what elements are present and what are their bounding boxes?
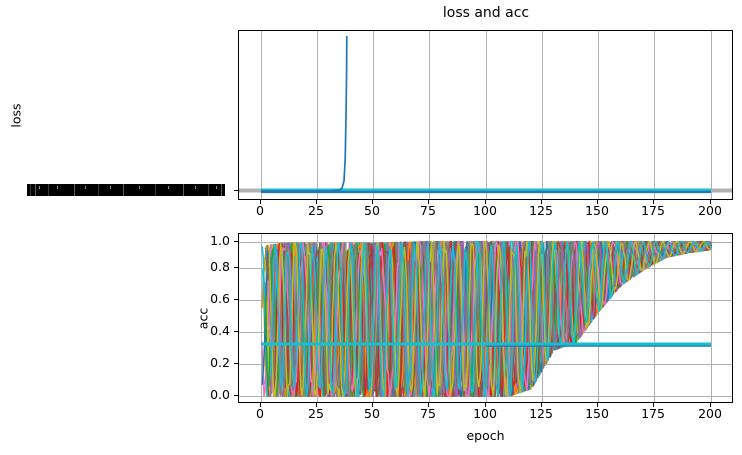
loss-xtick-label: 75	[420, 204, 436, 218]
loss-xtick-label: 200	[698, 204, 722, 218]
acc-ytick-mark	[234, 331, 238, 332]
figure-title: loss and acc	[238, 4, 734, 22]
acc-xtick-label: 175	[641, 407, 665, 421]
acc-plot-area	[238, 233, 733, 403]
acc-ytick-mark	[234, 241, 238, 242]
acc-xtick-label: 50	[364, 407, 380, 421]
acc-ytick-label: 1.0	[196, 234, 230, 248]
acc-xtick-label: 200	[698, 407, 722, 421]
acc-ytick-mark	[234, 299, 238, 300]
acc-xtick-label: 75	[420, 407, 436, 421]
acc-xtick-label: 125	[529, 407, 553, 421]
acc-ytick-mark	[234, 267, 238, 268]
acc-ytick-mark	[234, 395, 238, 396]
loss-plot-area	[238, 30, 733, 200]
loss-xtick-label: 50	[364, 204, 380, 218]
loss-xtick-label: 25	[308, 204, 324, 218]
loss-xtick-label: 100	[473, 204, 497, 218]
loss-xtick-label: 150	[585, 204, 609, 218]
loss-ytick-mark	[234, 190, 238, 191]
matplotlib-figure: loss and acc	[0, 0, 742, 455]
acc-ylabel: acc	[196, 291, 211, 347]
acc-xlabel: epoch	[238, 428, 733, 443]
loss-ylabel: loss	[9, 88, 24, 144]
acc-xtick-label: 25	[308, 407, 324, 421]
acc-ytick-mark	[234, 363, 238, 364]
loss-ytick-label-cluster	[27, 184, 225, 196]
acc-xtick-label: 150	[585, 407, 609, 421]
loss-xtick-label: 125	[529, 204, 553, 218]
loss-xtick-label: 0	[256, 204, 264, 218]
acc-flatline-canvas	[239, 234, 733, 403]
acc-ytick-label: 0.8	[196, 260, 230, 274]
acc-xtick-label: 0	[256, 407, 264, 421]
acc-ytick-label: 0.2	[196, 356, 230, 370]
acc-xtick-label: 100	[473, 407, 497, 421]
loss-xtick-label: 175	[641, 204, 665, 218]
acc-ytick-label: 0.0	[196, 388, 230, 402]
loss-series-canvas	[239, 31, 733, 200]
